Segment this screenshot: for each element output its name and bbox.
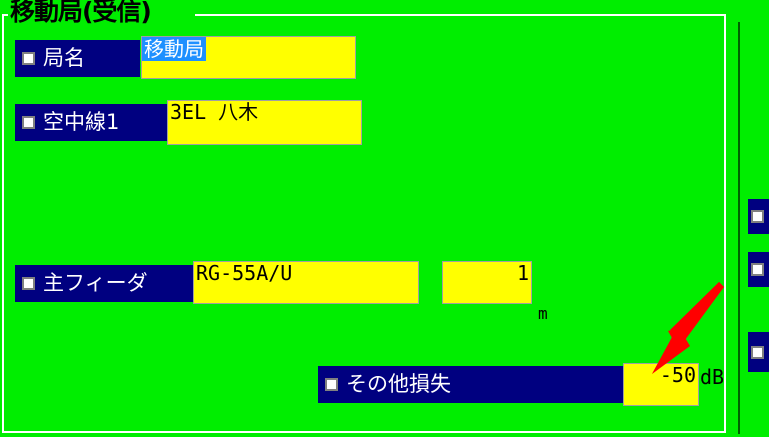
station-name-input[interactable]: 移動局: [141, 36, 356, 79]
antenna1-checkbox[interactable]: [22, 116, 35, 129]
groupbox-border-right: [724, 14, 726, 433]
station-name-checkbox[interactable]: [22, 52, 35, 65]
station-name-label: 局名: [43, 48, 85, 69]
edge-checkbox-3[interactable]: [751, 346, 764, 359]
main-feeder-length-input[interactable]: 1: [442, 261, 532, 304]
groupbox-border-left: [2, 14, 4, 433]
mobile-station-receive-panel: 移動局(受信) 局名 移動局 空中線1 3EL 八木 主フィーダ RG-55A/…: [0, 0, 769, 437]
station-name-value: 移動局: [142, 37, 206, 61]
groupbox-border-bottom: [2, 431, 726, 433]
other-loss-value: -50: [658, 364, 698, 386]
main-feeder-label: 主フィーダ: [43, 273, 148, 294]
antenna1-input[interactable]: 3EL 八木: [167, 100, 362, 145]
other-loss-label: その他損失: [346, 374, 451, 395]
main-feeder-value: RG-55A/U: [194, 262, 294, 284]
groupbox-border-top-right: [195, 14, 726, 16]
main-feeder-length-value: 1: [515, 262, 531, 284]
antenna1-label: 空中線1: [43, 112, 119, 133]
main-feeder-input[interactable]: RG-55A/U: [193, 261, 419, 304]
edge-checkbox-plate-3[interactable]: [748, 332, 769, 372]
edge-checkbox-plate-1[interactable]: [748, 199, 769, 234]
other-loss-label-plate[interactable]: その他損失: [318, 366, 623, 403]
station-name-label-plate[interactable]: 局名: [15, 40, 140, 77]
other-loss-input[interactable]: -50: [623, 363, 699, 406]
main-feeder-length-unit: m: [538, 306, 548, 322]
other-loss-checkbox[interactable]: [325, 378, 338, 391]
edge-checkbox-plate-2[interactable]: [748, 252, 769, 287]
groupbox-title: 移動局(受信): [8, 0, 155, 27]
main-feeder-label-plate[interactable]: 主フィーダ: [15, 265, 193, 302]
other-loss-unit: dB: [700, 369, 724, 385]
antenna1-label-plate[interactable]: 空中線1: [15, 104, 167, 141]
edge-checkbox-1[interactable]: [751, 210, 764, 223]
right-separator-line: [738, 22, 740, 434]
main-feeder-checkbox[interactable]: [22, 277, 35, 290]
antenna1-value: 3EL 八木: [168, 101, 260, 123]
edge-checkbox-2[interactable]: [751, 263, 764, 276]
